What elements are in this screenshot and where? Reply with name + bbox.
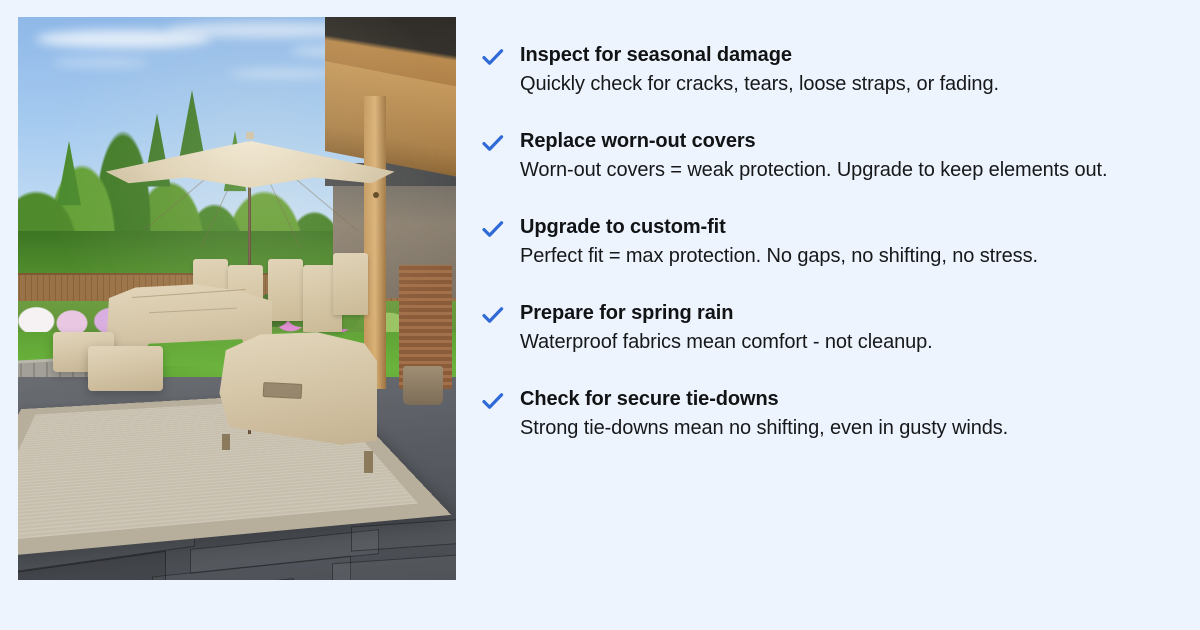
furniture-leg (364, 451, 373, 474)
list-item-body: Replace worn-out covers Worn-out covers … (520, 128, 1172, 185)
furniture-leg (222, 434, 231, 451)
wood-knot-icon (373, 192, 379, 198)
list-item-title: Prepare for spring rain (520, 300, 1172, 326)
cover-strap-pocket (263, 382, 303, 399)
list-item: Replace worn-out covers Worn-out covers … (482, 128, 1172, 185)
list-item: Upgrade to custom-fit Perfect fit = max … (482, 214, 1172, 271)
pergola-post (364, 96, 386, 389)
list-item-description: Worn-out covers = weak protection. Upgra… (520, 155, 1172, 185)
list-item-body: Prepare for spring rain Waterproof fabri… (520, 300, 1172, 357)
list-item-description: Strong tie-downs mean no shifting, even … (520, 413, 1172, 443)
patio-photo (18, 17, 456, 580)
cloud-icon (53, 58, 149, 66)
checklist: Inspect for seasonal damage Quickly chec… (482, 42, 1172, 443)
list-item-description: Perfect fit = max protection. No gaps, n… (520, 241, 1172, 271)
list-item-body: Upgrade to custom-fit Perfect fit = max … (520, 214, 1172, 271)
covered-dining-chair (268, 259, 303, 321)
list-item: Inspect for seasonal damage Quickly chec… (482, 42, 1172, 99)
list-item-title: Upgrade to custom-fit (520, 214, 1172, 240)
check-icon (482, 128, 504, 154)
page-root: Inspect for seasonal damage Quickly chec… (0, 0, 1200, 630)
umbrella-finial (246, 132, 254, 139)
check-icon (482, 386, 504, 412)
planter-pot (403, 366, 442, 405)
list-item: Prepare for spring rain Waterproof fabri… (482, 300, 1172, 357)
list-item-body: Check for secure tie-downs Strong tie-do… (520, 386, 1172, 443)
conifer-tree (57, 140, 81, 205)
list-item-title: Inspect for seasonal damage (520, 42, 1172, 68)
list-item-description: Quickly check for cracks, tears, loose s… (520, 69, 1172, 99)
check-icon (482, 300, 504, 326)
check-icon (482, 214, 504, 240)
list-item-body: Inspect for seasonal damage Quickly chec… (520, 42, 1172, 99)
list-item: Check for secure tie-downs Strong tie-do… (482, 386, 1172, 443)
photo-canvas (18, 17, 456, 580)
list-item-title: Check for secure tie-downs (520, 386, 1172, 412)
covered-dining-chair (333, 253, 368, 315)
covered-ottoman (88, 346, 162, 391)
check-icon (482, 42, 504, 68)
list-item-description: Waterproof fabrics mean comfort - not cl… (520, 327, 1172, 357)
list-item-title: Replace worn-out covers (520, 128, 1172, 154)
